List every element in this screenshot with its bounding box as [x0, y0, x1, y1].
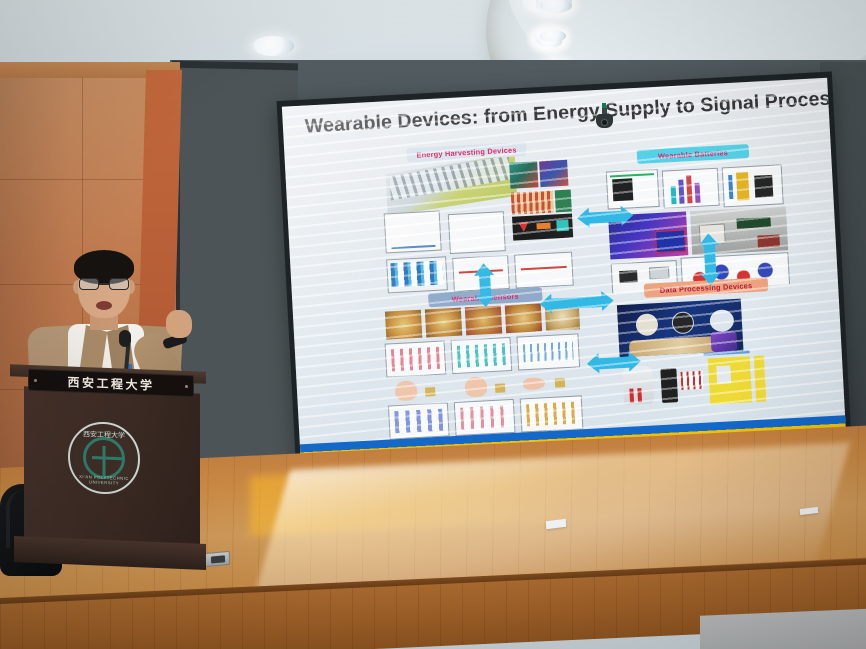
slide-title: Wearable Devices: from Energy Supply to … — [304, 88, 815, 138]
figure-data-processing — [613, 291, 820, 429]
figure-wearable-sensors — [379, 299, 592, 440]
emblem-english-text: XI'AN POLYTECHNIC UNIVERSITY — [70, 474, 138, 487]
mouth — [96, 301, 112, 310]
arrow-battery-to-processing — [704, 244, 717, 275]
arrow-sensors-bidirectional — [550, 296, 603, 310]
floor-tile-area — [700, 608, 866, 649]
emblem-ring — [83, 436, 125, 480]
arrow-energy-to-sensors — [479, 274, 491, 297]
microphone-icon — [119, 330, 131, 347]
arrow-energy-to-battery — [588, 211, 623, 224]
dome-camera-icon — [596, 108, 613, 134]
floor-socket — [204, 551, 230, 567]
downlight-icon — [540, 30, 566, 42]
lectern-nameplate-text: 西安工程大学 — [67, 373, 154, 393]
downlight-icon — [252, 36, 294, 56]
hand-fist — [166, 310, 192, 338]
glasses-icon — [78, 278, 130, 290]
arrow-sensors-to-processing — [598, 357, 631, 370]
presentation-photo-scene: Wearable Devices: from Energy Supply to … — [0, 0, 866, 649]
lectern: 西安工程大学 西安工程大学 XI'AN POLYTECHNIC UNIVERSI… — [10, 368, 206, 568]
